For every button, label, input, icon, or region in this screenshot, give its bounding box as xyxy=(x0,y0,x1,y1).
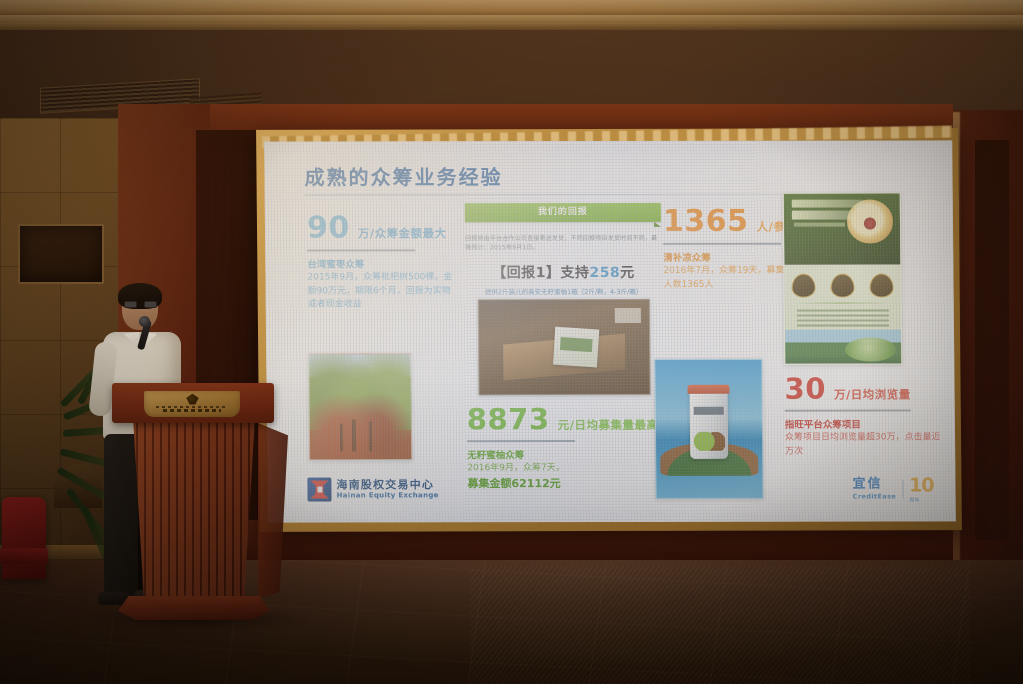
lectern-base xyxy=(118,596,270,620)
stat-90-number: 90 xyxy=(307,210,350,245)
gift-box-insert xyxy=(553,327,599,368)
reward-banner: 我们的回报 xyxy=(465,203,661,222)
reward-headline-amount: 258 xyxy=(589,265,620,281)
stat-8873-divider xyxy=(467,440,575,442)
ad-badge-3 xyxy=(869,273,893,297)
anniversary-number: 10 xyxy=(909,474,934,496)
ad-badge-1 xyxy=(792,273,816,297)
ad-badge-2 xyxy=(830,273,854,297)
product-can-label xyxy=(694,407,724,415)
ad-header xyxy=(784,193,901,265)
hainan-logo-cn: 海南股权交易中心 xyxy=(336,479,438,491)
anniversary-number-text: 10 xyxy=(909,474,934,496)
stat-8873-number: 8873 xyxy=(467,402,550,436)
crown-molding-upper xyxy=(0,0,1023,16)
wooden-lectern xyxy=(112,383,274,623)
stat-90-heading: 台湾蜜枣众筹 xyxy=(307,258,457,272)
stat-1365-divider xyxy=(663,243,781,245)
stat-block-90: 90 万/众筹金额最大 台湾蜜枣众筹 2015年9月，众筹枇杷树500棵，金额9… xyxy=(307,213,458,312)
reward-description: 提供2斤装儿的高安无籽蜜柚1箱（2斤/颗，4-3斤/箱） xyxy=(466,287,662,298)
reward-headline-prefix: 【回报1】支持 xyxy=(492,265,589,281)
ad-subheadline xyxy=(794,222,845,226)
stat-90-body: 2015年9月，众筹枇杷树500棵，金额90万元，期限6个月，回报为实物或者现金… xyxy=(307,272,457,313)
lectern-front-panel xyxy=(128,422,260,598)
reward-banner-tail xyxy=(654,222,661,227)
projected-slide: 成熟的众筹业务经验 90 万/众筹金额最大 台湾蜜枣众筹 2015年9月，众筹枇… xyxy=(264,140,956,522)
organization-crest-icon xyxy=(186,394,198,405)
stat-30-heading: 指旺平台众筹项目 xyxy=(785,418,945,432)
stat-1365-number: 1365 xyxy=(663,204,749,239)
reward-headline-suffix: 元 xyxy=(620,265,635,281)
ad-divider xyxy=(799,302,887,303)
anniversary-sub: 周年 xyxy=(909,496,934,503)
product-can-lid xyxy=(687,385,729,395)
nameplate-text-line2 xyxy=(163,409,221,412)
hainan-logo-en: Hainan Equity Exchange xyxy=(337,491,439,499)
reward-headline: 【回报1】支持258元 xyxy=(465,262,661,282)
creditease-logo-en: CreditEase xyxy=(853,492,897,500)
product-can-artwork xyxy=(693,432,725,451)
stat-90-divider xyxy=(307,249,415,251)
stat-30-unit: 万/日均浏览量 xyxy=(834,387,911,401)
reward-block: 我们的回报 回报将由平台合作公司直接寄送发货，不同回报项目发货时间不同，最晚预计… xyxy=(465,203,662,297)
nameplate-text-line1 xyxy=(156,406,229,408)
lectern-nameplate xyxy=(144,391,240,417)
floor-mat xyxy=(470,566,970,684)
conference-hall-photo: 成熟的众筹业务经验 90 万/众筹金额最大 台湾蜜枣众筹 2015年9月，众筹枇… xyxy=(0,0,1023,684)
hainan-equity-exchange-mark-icon xyxy=(307,477,331,501)
microphone-head xyxy=(139,316,150,327)
stat-8873-unit: 元/日均募集量最高 xyxy=(558,418,659,432)
milk-honey-date-product-ad xyxy=(783,192,903,364)
stat-30-number: 30 xyxy=(784,372,826,406)
ad-headline-line1 xyxy=(792,199,864,208)
creditease-logo-cn: 宜信 xyxy=(852,478,896,492)
stat-30-body: 众筹项目日均浏览量超30万，点击量近万次 xyxy=(785,432,945,459)
hainan-equity-exchange-logo: 海南股权交易中心 Hainan Equity Exchange xyxy=(307,477,438,501)
creditease-logo: 宜信 CreditEase 10 周年 xyxy=(852,474,933,503)
loquat-orchard-photo xyxy=(308,353,412,460)
red-chair-seat xyxy=(0,548,48,564)
stat-block-30: 30 万/日均浏览量 指旺平台众筹项目 众筹项目日均浏览量超30万，点击量近万次 xyxy=(784,374,945,459)
eyeglasses-icon xyxy=(124,301,157,308)
ad-landscape-photo xyxy=(785,329,901,363)
qingbuliang-can-island-photo xyxy=(654,359,763,499)
ad-headline-line2 xyxy=(792,211,852,220)
stat-30-divider xyxy=(785,409,911,411)
slide-title: 成熟的众筹业务经验 xyxy=(304,161,502,190)
wall-alcove xyxy=(18,224,104,284)
red-chair-icon xyxy=(2,497,46,579)
reward-fine-print: 回报将由平台合作公司直接寄送发货，不同回报项目发货时间不同，最晚预计：2015年… xyxy=(465,234,661,253)
reward-gift-box-photo xyxy=(478,299,651,395)
ad-body-text xyxy=(796,309,889,330)
gift-box-tag xyxy=(615,307,641,322)
creditease-logo-divider xyxy=(902,479,903,498)
stat-90-unit: 万/众筹金额最大 xyxy=(358,226,447,240)
ad-badge-row xyxy=(784,272,900,299)
right-wall-panel xyxy=(975,140,1009,540)
lectern-top xyxy=(112,383,274,423)
crown-molding-lower xyxy=(0,23,1023,30)
